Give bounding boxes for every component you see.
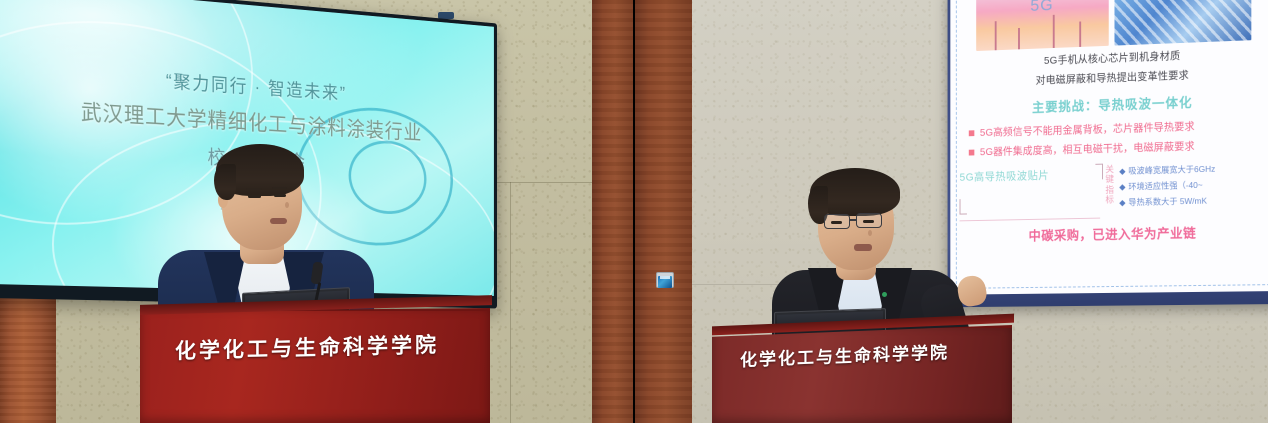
eyeglasses-bridge [850, 219, 857, 221]
wall-sign-right [656, 272, 674, 288]
speaker-eye [248, 195, 261, 198]
slide-image-5g-tower [976, 0, 1109, 51]
speaker-eye [831, 221, 842, 224]
bracket-corner-icon [1095, 164, 1103, 180]
speaker-eye [863, 220, 874, 223]
speaker-brow [272, 187, 287, 189]
panel-divider [633, 0, 635, 423]
tower-icon [1018, 28, 1020, 49]
speaker-nose [868, 230, 872, 236]
podium-left: 化学化工与生命科学学院 [140, 308, 490, 423]
speaker-eye [274, 194, 286, 197]
wood-column-right-panel [634, 0, 692, 423]
wall-sign-graphic [658, 276, 672, 288]
speaker-hair-side [214, 164, 236, 200]
podium-front-panel [140, 308, 490, 423]
tower-icon [1079, 21, 1081, 46]
podium-front-panel [712, 325, 1012, 423]
tower-icon [994, 21, 996, 50]
photo-panel-right: 5G手机从核心芯片到机身材质 对电磁屏蔽和导热提出变革性要求 主要挑战：导热吸波… [634, 0, 1268, 423]
photo-panel-left: “聚力同行 · 智造未来” 武汉理工大学精细化工与涂料涂装行业 校友研讨会 20… [0, 0, 634, 423]
lapel-pin-icon [882, 292, 887, 297]
speaker-brow [246, 188, 262, 190]
composite-photo: “聚力同行 · 智造未来” 武汉理工大学精细化工与涂料涂装行业 校友研讨会 20… [0, 0, 1268, 423]
speaker-mouth [270, 218, 287, 224]
wall-seam [510, 182, 511, 423]
speaker-mouth [854, 244, 872, 251]
podium-right: 化学化工与生命科学学院 [712, 325, 1012, 423]
tower-icon [1053, 15, 1055, 48]
wood-column-right [592, 0, 634, 423]
speaker-nose [285, 202, 289, 208]
